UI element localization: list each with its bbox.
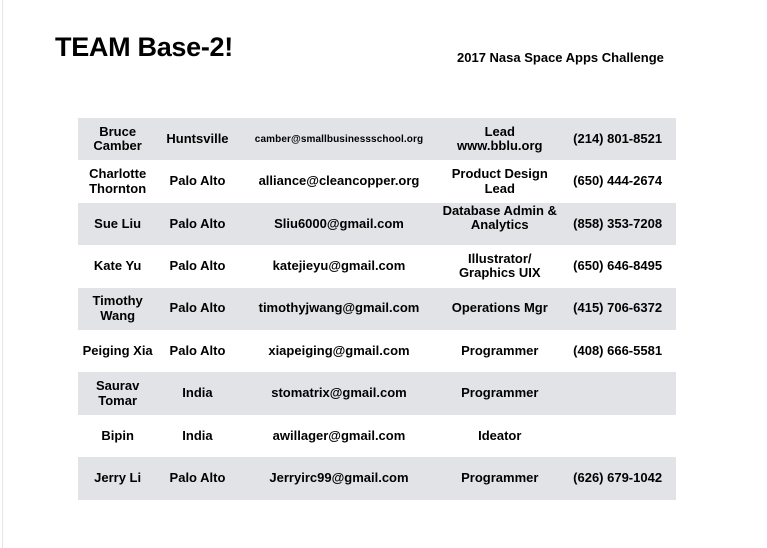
table-row: Charlotte Thornton Palo Alto alliance@cl…	[78, 160, 676, 202]
cell-phone: (415) 706-6372	[559, 288, 676, 330]
cell-name: Jerry Li	[78, 457, 157, 499]
cell-location: Palo Alto	[157, 245, 237, 287]
cell-role: Programmer	[440, 457, 559, 499]
table-row: Timothy Wang Palo Alto timothyjwang@gmai…	[78, 288, 676, 330]
cell-name: Sue Liu	[78, 203, 157, 245]
cell-email: Jerryirc99@gmail.com	[238, 457, 441, 499]
table-row: Peiging Xia Palo Alto xiapeiging@gmail.c…	[78, 330, 676, 372]
table-row: Saurav Tomar India stomatrix@gmail.com P…	[78, 372, 676, 414]
cell-role: Database Admin & Analytics	[440, 203, 559, 245]
cell-role: Programmer	[440, 330, 559, 372]
cell-email: alliance@cleancopper.org	[238, 160, 441, 202]
cell-role: Lead www.bblu.org	[440, 118, 559, 160]
cell-location: India	[157, 372, 237, 414]
cell-phone	[559, 415, 676, 457]
table-row: Bipin India awillager@gmail.com Ideator	[78, 415, 676, 457]
team-roster-table: Bruce Camber Huntsville camber@smallbusi…	[78, 118, 676, 500]
page-title: TEAM Base-2!	[55, 33, 233, 63]
table-row: Bruce Camber Huntsville camber@smallbusi…	[78, 118, 676, 160]
cell-role: Ideator	[440, 415, 559, 457]
cell-name: Saurav Tomar	[78, 372, 157, 414]
cell-email: Sliu6000@gmail.com	[238, 203, 441, 245]
cell-role: Illustrator/ Graphics UIX	[440, 245, 559, 287]
cell-location: Palo Alto	[157, 330, 237, 372]
slide-canvas: TEAM Base-2! 2017 Nasa Space Apps Challe…	[0, 0, 767, 548]
cell-name: Bipin	[78, 415, 157, 457]
table-row: Kate Yu Palo Alto katejieyu@gmail.com Il…	[78, 245, 676, 287]
cell-location: Palo Alto	[157, 457, 237, 499]
cell-email: timothyjwang@gmail.com	[238, 288, 441, 330]
cell-role: Operations Mgr	[440, 288, 559, 330]
cell-location: Palo Alto	[157, 203, 237, 245]
cell-phone: (214) 801-8521	[559, 118, 676, 160]
cell-email: awillager@gmail.com	[238, 415, 441, 457]
cell-email: katejieyu@gmail.com	[238, 245, 441, 287]
cell-phone: (858) 353-7208	[559, 203, 676, 245]
cell-location: India	[157, 415, 237, 457]
cell-phone: (626) 679-1042	[559, 457, 676, 499]
cell-phone: (650) 646-8495	[559, 245, 676, 287]
cell-phone: (650) 444-2674	[559, 160, 676, 202]
cell-location: Palo Alto	[157, 160, 237, 202]
cell-role: Programmer	[440, 372, 559, 414]
cell-name: Kate Yu	[78, 245, 157, 287]
cell-role: Product Design Lead	[440, 160, 559, 202]
cell-email: camber@smallbusinessschool.org	[238, 118, 441, 160]
cell-location: Palo Alto	[157, 288, 237, 330]
cell-name: Charlotte Thornton	[78, 160, 157, 202]
cell-location: Huntsville	[157, 118, 237, 160]
cell-phone	[559, 372, 676, 414]
cell-name: Bruce Camber	[78, 118, 157, 160]
cell-name: Timothy Wang	[78, 288, 157, 330]
cell-email: stomatrix@gmail.com	[238, 372, 441, 414]
cell-phone: (408) 666-5581	[559, 330, 676, 372]
cell-role-text: Database Admin & Analytics	[442, 203, 557, 233]
cell-email: xiapeiging@gmail.com	[238, 330, 441, 372]
team-roster-body: Bruce Camber Huntsville camber@smallbusi…	[78, 118, 676, 500]
event-subtitle: 2017 Nasa Space Apps Challenge	[457, 51, 664, 65]
table-row: Sue Liu Palo Alto Sliu6000@gmail.com Dat…	[78, 203, 676, 245]
cell-name: Peiging Xia	[78, 330, 157, 372]
table-row: Jerry Li Palo Alto Jerryirc99@gmail.com …	[78, 457, 676, 499]
